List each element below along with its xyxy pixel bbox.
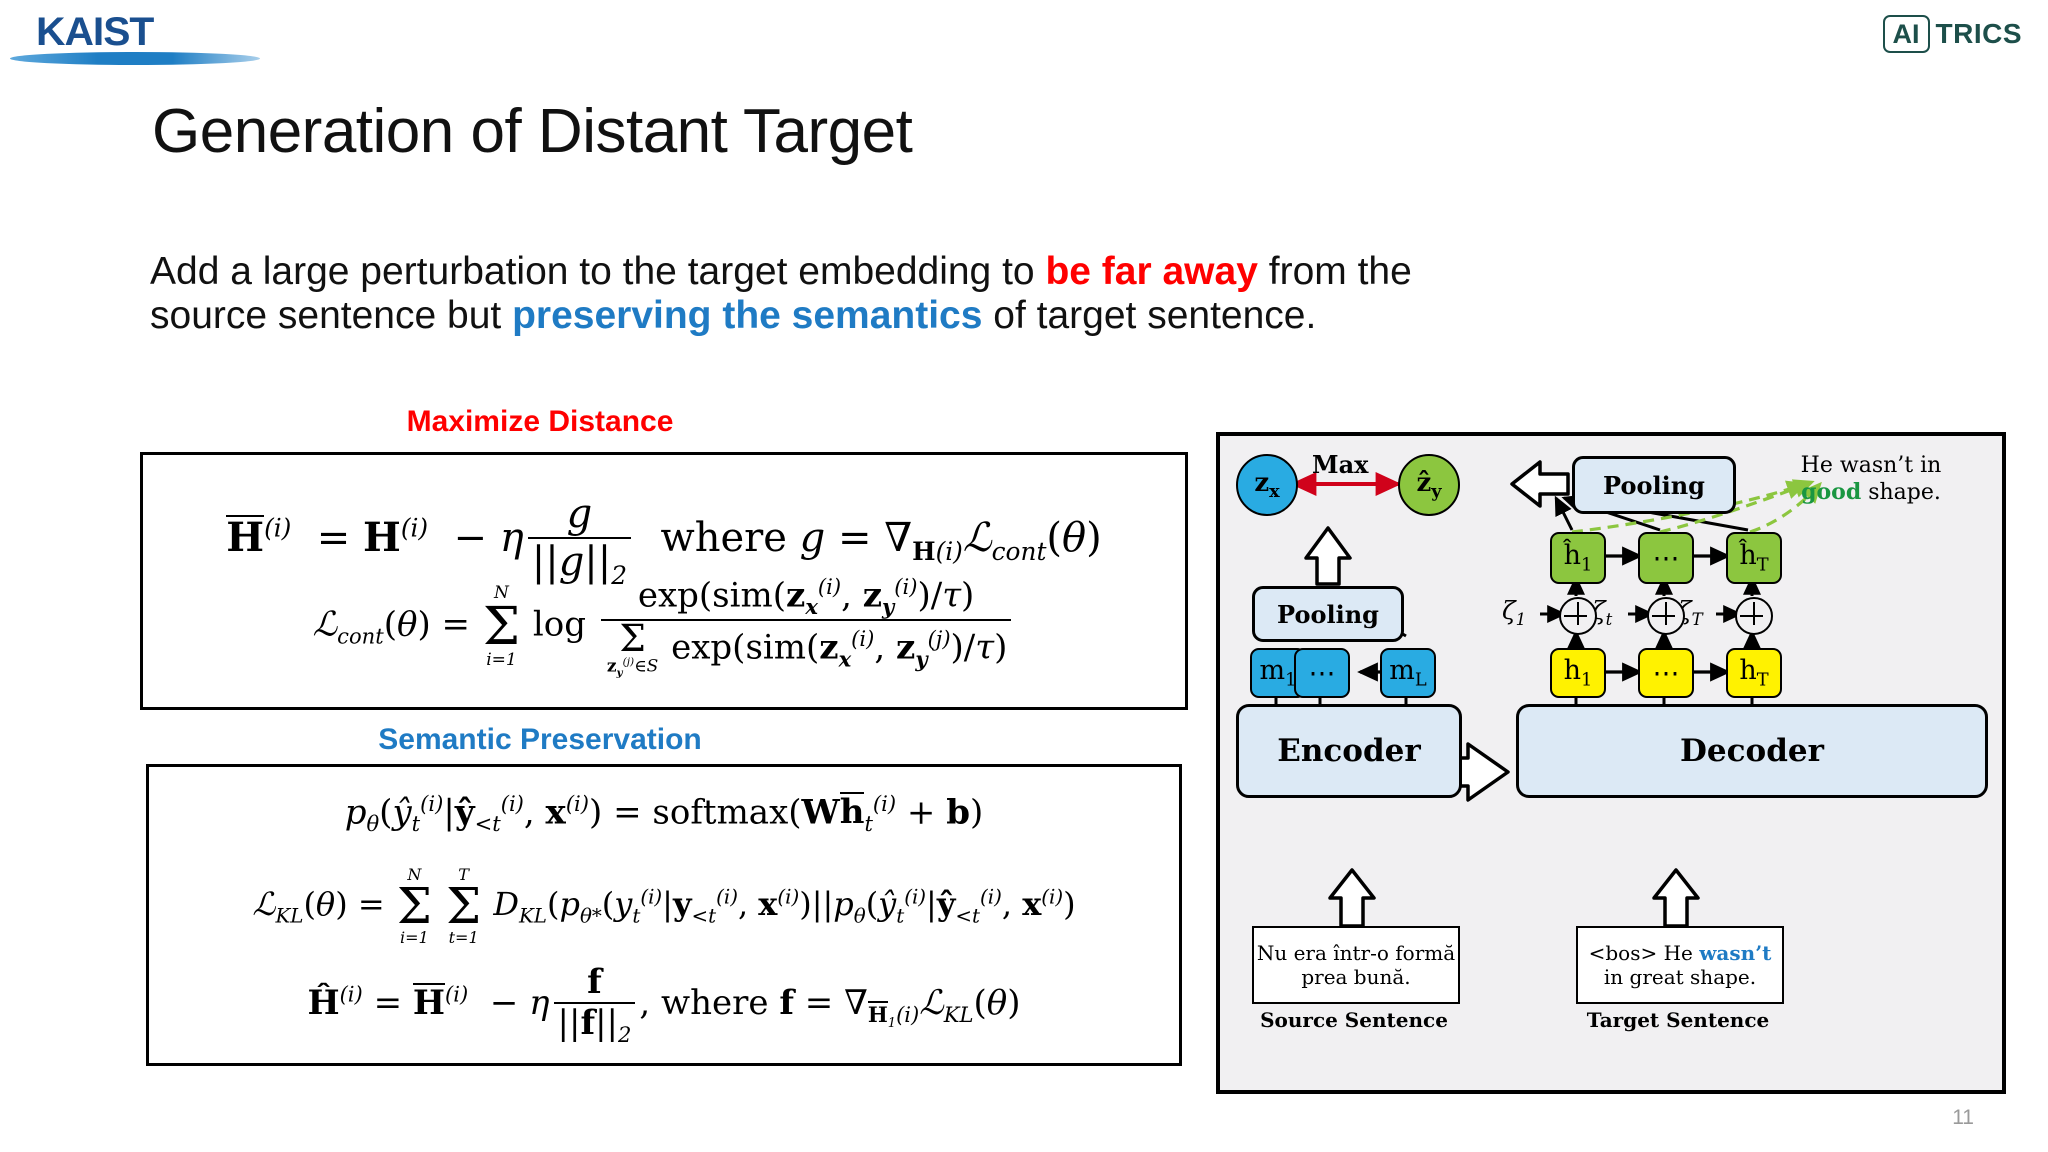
page-number: 11 [1952, 1106, 1974, 1130]
decoder-state-2: hT [1726, 648, 1782, 698]
equation-contrastive-loss: ℒcont(θ) = NΣi=1 log exp(sim(zx(i), zy(i… [143, 575, 1185, 678]
target-sentence-prefix: <bos> He [1589, 941, 1700, 965]
add-operator-0 [1559, 597, 1597, 635]
max-distance-label: Max [1312, 450, 1368, 479]
latent-node-z-y-hat-label: ẑy [1416, 468, 1441, 502]
target-sentence-label: Target Sentence [1576, 1008, 1780, 1032]
output-sentence-suffix: shape. [1861, 480, 1941, 505]
source-sentence-line2: prea bună. [1301, 965, 1410, 989]
output-sentence-prefix: He wasn’t in [1801, 453, 1942, 478]
add-operator-1 [1647, 597, 1685, 635]
aitrics-trics-text: TRICS [1936, 18, 2023, 50]
equation-kl-loss: ℒKL(θ) = NΣi=1 TΣt=1 DKL(pθ*(yt(i)|y<t(i… [149, 867, 1179, 946]
pooling-block-decoder: Pooling [1572, 456, 1736, 514]
latent-node-z-x: zx [1236, 454, 1298, 516]
source-sentence-label: Source Sentence [1252, 1008, 1456, 1032]
encoder-state-2: mL [1380, 648, 1436, 698]
output-sentence-highlight: good [1801, 479, 1861, 505]
architecture-diagram: zx Max ẑy Pooling He wasn’t in good shap… [1216, 432, 2006, 1094]
target-sentence-line2: in great shape. [1604, 965, 1756, 989]
perturbed-state-0: ĥ1 [1550, 532, 1606, 584]
body-highlight-blue: preserving the semantics [512, 294, 982, 337]
body-highlight-red: be far away [1045, 250, 1257, 293]
equation-softmax-output: pθ(ŷt(i)|ŷ<t(i), x(i)) = softmax(Wht(i) … [149, 791, 1179, 836]
latent-node-z-x-subscript: x [1269, 481, 1280, 502]
perturbed-state-0-label: ĥ1 [1564, 540, 1593, 575]
target-sentence-highlight: wasn’t [1699, 941, 1771, 965]
kaist-swoosh-graphic [10, 52, 260, 65]
body-paragraph: Add a large perturbation to the target e… [150, 250, 1480, 338]
noise-label-0: ζ1 [1502, 596, 1526, 629]
encoder-state-0-label: m1 [1260, 655, 1297, 690]
encoder-state-1: ⋯ [1294, 648, 1350, 698]
encoder-state-1-label: ⋯ [1309, 658, 1336, 689]
decoder-state-1-label: ⋯ [1653, 658, 1680, 689]
decoder-state-0: h1 [1550, 648, 1606, 698]
perturbed-state-1: ⋯ [1638, 532, 1694, 584]
decoder-state-2-label: hT [1739, 655, 1768, 690]
equation-h-hat-update: Ĥ(i) = H(i) − ηf||f||2, where f = ∇H1(i)… [149, 963, 1179, 1047]
pooling-block-encoder: Pooling [1252, 586, 1404, 642]
encoder-state-2-label: mL [1389, 655, 1426, 690]
aitrics-ai-text: AI [1893, 19, 1920, 50]
perturbed-state-1-label: ⋯ [1653, 543, 1680, 574]
body-part-3: of target sentence. [982, 294, 1316, 337]
add-operator-2 [1735, 597, 1773, 635]
decoder-block: Decoder [1516, 704, 1988, 798]
aitrics-ai-badge: AI [1883, 15, 1930, 53]
latent-node-z-x-label: zx [1254, 468, 1279, 502]
body-part-1: Add a large perturbation to the target e… [150, 250, 1045, 293]
latent-node-z-y-hat: ẑy [1398, 454, 1460, 516]
kaist-logo: KAIST [36, 12, 226, 68]
perturbed-state-2: ĥT [1726, 532, 1782, 584]
latent-node-z-y-hat-subscript: y [1431, 481, 1441, 502]
kaist-logo-text: KAIST [36, 12, 230, 52]
perturbed-state-2-label: ĥT [1739, 540, 1768, 575]
source-sentence-box: Nu era într-o formă prea bună. [1252, 926, 1460, 1004]
slide-root: KAIST AI TRICS Generation of Distant Tar… [0, 0, 2048, 1152]
equation-box-semantic-preservation: pθ(ŷt(i)|ŷ<t(i), x(i)) = softmax(Wht(i) … [146, 764, 1182, 1066]
aitrics-logo: AI TRICS [1883, 14, 2023, 54]
generated-output-sentence: He wasn’t in good shape. [1766, 452, 1976, 507]
caption-maximize-distance: Maximize Distance [340, 405, 740, 439]
caption-semantic-preservation: Semantic Preservation [340, 723, 740, 757]
target-sentence-box: <bos> He wasn’t in great shape. [1576, 926, 1784, 1004]
source-sentence-line1: Nu era într-o formă [1257, 941, 1455, 965]
decoder-state-0-label: h1 [1564, 655, 1593, 690]
decoder-state-1: ⋯ [1638, 648, 1694, 698]
encoder-block: Encoder [1236, 704, 1462, 798]
page-title: Generation of Distant Target [152, 96, 912, 167]
equation-box-maximize-distance: H(i) = H(i) − ηg||g||2 where g = ∇H(i)ℒc… [140, 452, 1188, 710]
